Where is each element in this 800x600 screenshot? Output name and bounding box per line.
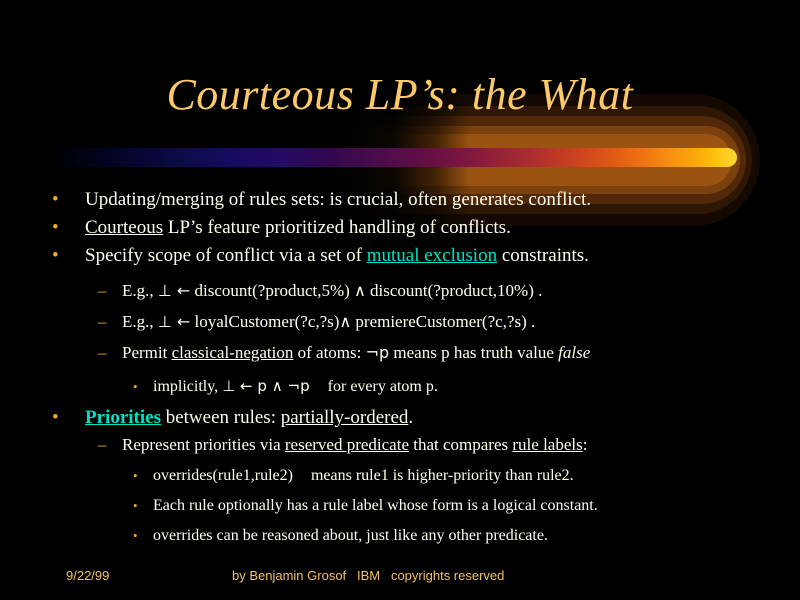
bullet-marker-level2: – — [98, 278, 107, 304]
bullet-text: : — [583, 435, 588, 454]
bullet-level3-item: • overrides(rule1,rule2)means rule1 is h… — [0, 463, 800, 488]
bullet-text: E.g., — [122, 281, 158, 300]
underlined-term-classical-negation: classical-negation — [172, 343, 294, 362]
bullet-text: LP’s feature prioritized handling of con… — [163, 217, 511, 238]
slide-canvas: Courteous LP’s: the What • Updating/merg… — [0, 0, 800, 600]
bullet-marker-level3: • — [133, 523, 138, 548]
footer-credit: by Benjamin Grosof IBM copyrights reserv… — [232, 565, 504, 587]
underlined-term-courteous: Courteous — [85, 217, 163, 238]
slide-footer: 9/22/99 by Benjamin Grosof IBM copyright… — [0, 565, 800, 587]
bullet-text: Updating/merging of rules sets: is cruci… — [85, 189, 591, 210]
bullet-text: Represent priorities via — [122, 435, 285, 454]
bullet-level1-item: • Updating/merging of rules sets: is cru… — [0, 186, 800, 214]
bullet-text: overrides can be reasoned about, just li… — [153, 527, 548, 544]
bullet-text: overrides(rule1,rule2) — [153, 467, 293, 484]
bullet-text: means rule1 is higher-priority than rule… — [311, 467, 574, 484]
logic-symbol-negation: ¬p — [366, 343, 390, 362]
bullet-text: constraints. — [497, 245, 589, 266]
bullet-text: discount(?product,10%) . — [366, 281, 543, 300]
logic-symbol-and: ∧ — [339, 312, 351, 331]
hyperlink-mutual-exclusion[interactable]: mutual exclusion — [367, 245, 497, 266]
spacer — [0, 270, 800, 278]
logic-symbol-and: ∧ — [354, 281, 366, 300]
bullet-text: E.g., — [122, 312, 158, 331]
logic-formula-implicit: ⊥ ← p ∧ ¬p — [222, 377, 309, 395]
bullet-level2-item: – Represent priorities via reserved pred… — [0, 432, 800, 458]
bullet-level2-item: – E.g., ⊥ ← loyalCustomer(?c,?s)∧ premie… — [0, 309, 800, 335]
logic-symbol-bottom-arrow: ⊥ ← — [158, 281, 190, 300]
bullet-text: loyalCustomer(?c,?s) — [190, 312, 339, 331]
spacer — [0, 366, 800, 374]
bullet-level2-item: – E.g., ⊥ ← discount(?product,5%) ∧ disc… — [0, 278, 800, 304]
bullet-text: that compares — [409, 435, 512, 454]
slide-title: Courteous LP’s: the What — [0, 68, 800, 122]
bullet-level1-item: • Courteous LP’s feature prioritized han… — [0, 214, 800, 242]
bullet-text: means p has truth value — [389, 343, 558, 362]
bullet-marker-level1: • — [52, 242, 59, 270]
logic-symbol-bottom-arrow: ⊥ ← — [158, 312, 190, 331]
bullet-marker-level1: • — [52, 214, 59, 242]
underlined-term-reserved-predicate: reserved predicate — [285, 435, 409, 454]
bullet-text: of atoms: — [293, 343, 365, 362]
bullet-marker-level3: • — [133, 493, 138, 518]
bullet-level3-item: • Each rule optionally has a rule label … — [0, 493, 800, 518]
bullet-marker-level3: • — [133, 374, 138, 399]
bullet-text: Permit — [122, 343, 172, 362]
underlined-term-rule-labels: rule labels — [512, 435, 582, 454]
bullet-text: between rules: — [161, 407, 281, 428]
bullet-marker-level3: • — [133, 463, 138, 488]
bullet-marker-level1: • — [52, 186, 59, 214]
bullet-level1-item: • Specify scope of conflict via a set of… — [0, 242, 800, 270]
bullet-text: implicitly, — [153, 378, 222, 395]
bullet-text: . — [408, 407, 413, 428]
bullet-marker-level2: – — [98, 309, 107, 335]
bullet-marker-level2: – — [98, 432, 107, 458]
bullet-text: Each rule optionally has a rule label wh… — [153, 497, 598, 514]
bullet-level1-item: • Priorities between rules: partially-or… — [0, 404, 800, 432]
underlined-term-partially-ordered: partially-ordered — [281, 407, 409, 428]
bullet-text: premiereCustomer(?c,?s) . — [351, 312, 535, 331]
footer-date: 9/22/99 — [66, 565, 109, 587]
bullet-text: discount(?product,5%) — [190, 281, 354, 300]
bullet-marker-level2: – — [98, 340, 107, 366]
hyperlink-priorities[interactable]: Priorities — [85, 407, 161, 428]
bullet-level3-item: • implicitly, ⊥ ← p ∧ ¬pfor every atom p… — [0, 374, 800, 399]
bullet-level2-item: – Permit classical-negation of atoms: ¬p… — [0, 340, 800, 366]
bullet-marker-level1: • — [52, 404, 59, 432]
gradient-accent-bar — [55, 148, 737, 167]
bullet-level3-item: • overrides can be reasoned about, just … — [0, 523, 800, 548]
slide-body: • Updating/merging of rules sets: is cru… — [0, 186, 800, 548]
bullet-text: Specify scope of conflict via a set of — [85, 245, 367, 266]
bullet-text: for every atom p. — [328, 378, 438, 395]
italic-term-false: false — [558, 343, 590, 362]
